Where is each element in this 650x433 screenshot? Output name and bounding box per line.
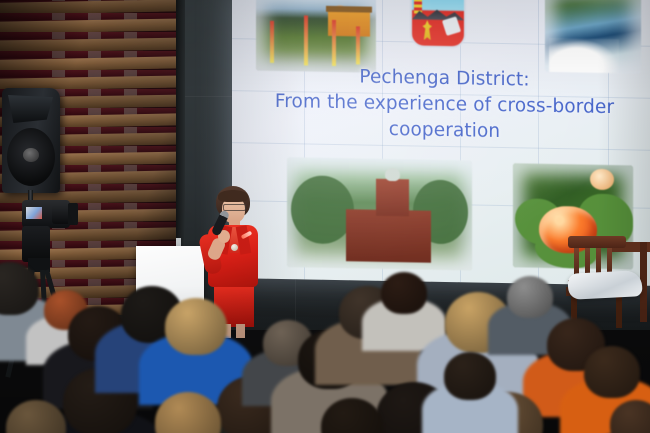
person-dark-bob <box>381 272 427 314</box>
camera-screen <box>26 207 42 219</box>
person-blonde-long <box>165 298 227 355</box>
presenter-bangs <box>218 190 248 202</box>
person-older-man <box>507 276 553 318</box>
pa-speaker <box>2 88 60 193</box>
slide-image-coat-of-arms <box>410 0 466 48</box>
slide-title: Pechenga District: From the experience o… <box>240 62 649 147</box>
slide-image-waterfall <box>545 0 641 74</box>
person-pale-blue-shirt <box>444 352 496 400</box>
camera-lens-hood <box>68 203 78 225</box>
glasses-icon <box>223 204 246 211</box>
presentation-photo: Pechenga District: From the experience o… <box>0 0 650 433</box>
slide-image-border-crossing <box>256 0 376 73</box>
person-orange-top <box>584 346 640 398</box>
audience <box>0 250 650 433</box>
